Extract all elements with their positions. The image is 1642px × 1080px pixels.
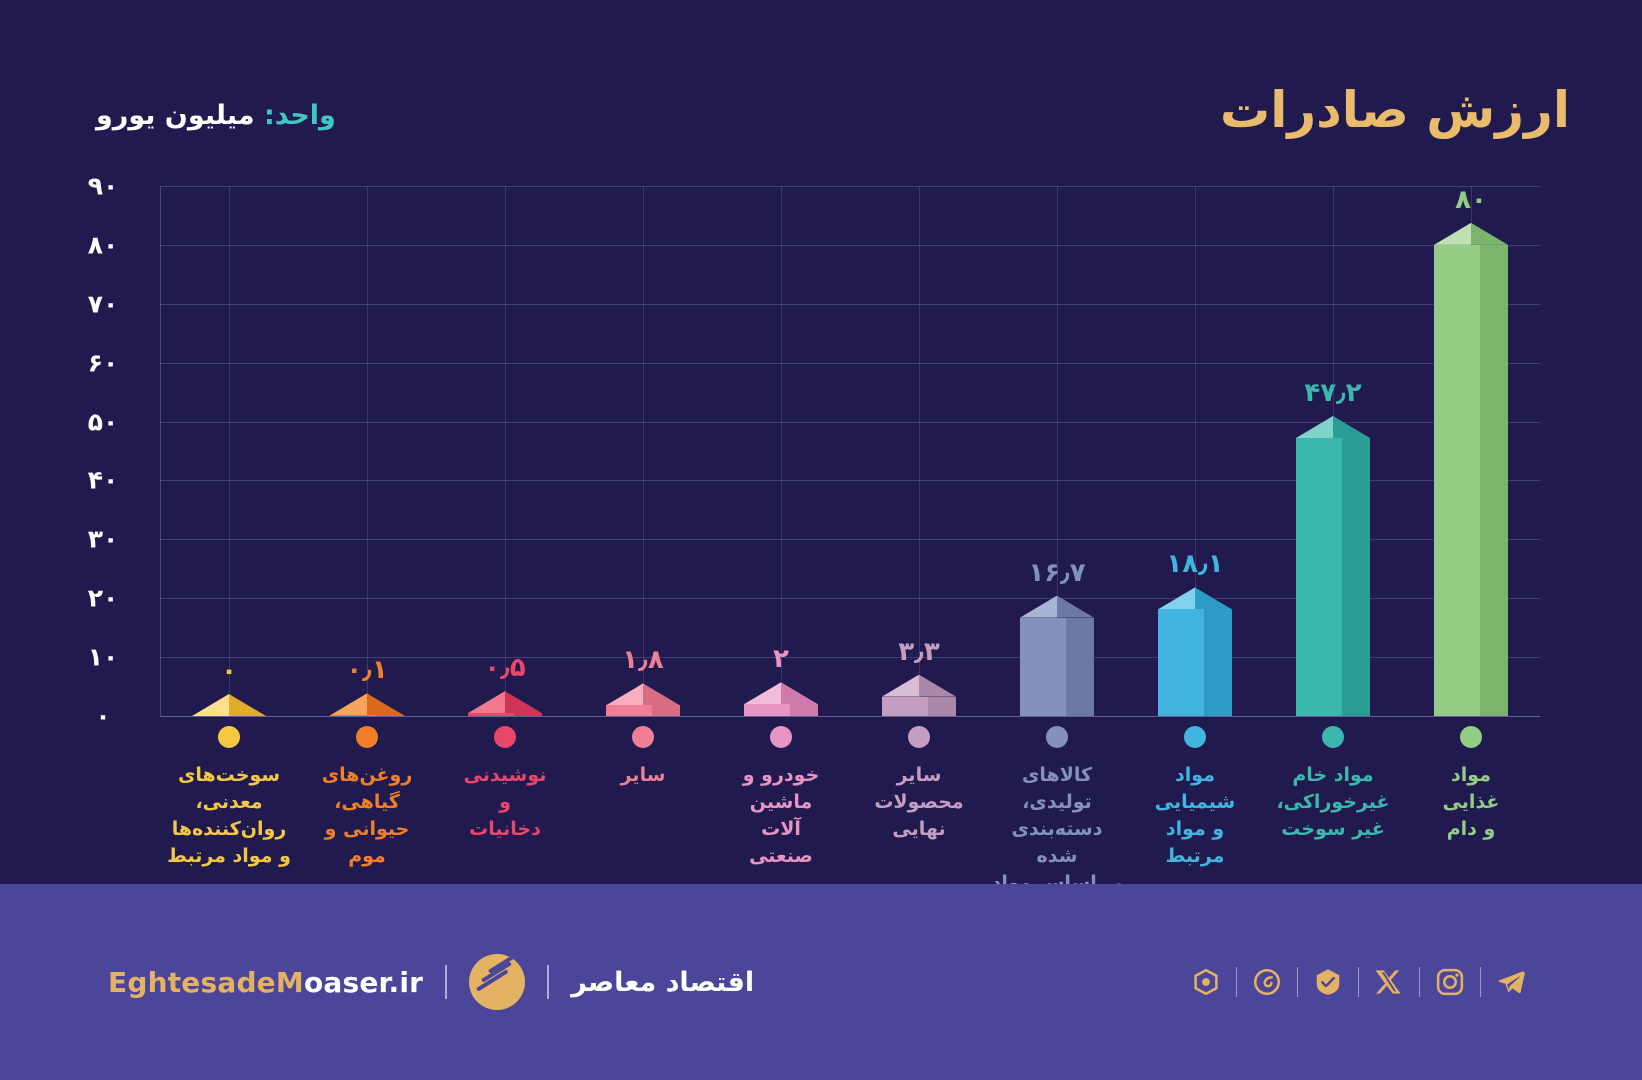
bar-top-right-facet: [367, 693, 404, 715]
bar-top-left-facet: [1158, 587, 1195, 609]
category-label: موادغذاییو دام: [1402, 762, 1540, 843]
category-label-line: روان‌کننده‌ها: [160, 816, 298, 843]
bar-value-label: ۴۷٫۲: [1304, 378, 1361, 408]
bar-top-face: [882, 675, 956, 697]
bar-slot[interactable]: ۰: [160, 186, 298, 716]
bar[interactable]: [1434, 223, 1508, 716]
bar[interactable]: [1296, 416, 1370, 716]
category-label-line: آلات: [712, 816, 850, 843]
category-label-line: غیرخوراکی،: [1264, 789, 1402, 816]
category-label-line: سوخت‌های: [160, 762, 298, 789]
category-dot-icon: [1322, 726, 1344, 748]
y-tick-label: ۳۰: [68, 525, 138, 554]
category-label: مواد خامغیرخوراکی،غیر سوخت: [1264, 762, 1402, 843]
bar-slot[interactable]: ۳٫۳: [850, 186, 988, 716]
y-tick-label: ۰: [68, 702, 138, 731]
bar-top-right-facet: [1471, 223, 1508, 245]
bar-slot[interactable]: ۱۶٫۷: [988, 186, 1126, 716]
x-category-5[interactable]: سایرمحصولاتنهایی: [850, 726, 988, 843]
category-label-line: و مواد مرتبط: [160, 843, 298, 870]
brand-group: اقتصاد معاصر EghtesadeMoaser.ir: [108, 950, 754, 1014]
category-label: سوخت‌هایمعدنی،روان‌کننده‌هاو مواد مرتبط: [160, 762, 298, 870]
bar-slot[interactable]: ۰٫۵: [436, 186, 574, 716]
bar-front-face: [1020, 618, 1094, 716]
category-label-line: دسته‌بندی شده: [988, 816, 1126, 870]
bar-front-face: [882, 697, 956, 716]
category-dot-icon: [494, 726, 516, 748]
bar-front-face: [1434, 245, 1508, 716]
y-tick-label: ۴۰: [68, 466, 138, 495]
bar-top-face: [330, 693, 404, 715]
bar-top-face: [1296, 416, 1370, 438]
category-label: کالاهای تولیدی،دسته‌بندی شدهبر اساس مواد: [988, 762, 1126, 897]
bar-value-label: ۲: [773, 644, 789, 674]
category-dot-icon: [218, 726, 240, 748]
category-label-line: مواد: [1402, 762, 1540, 789]
x-category-8[interactable]: مواد خامغیرخوراکی،غیر سوخت: [1264, 726, 1402, 843]
category-dot-icon: [1184, 726, 1206, 748]
bar-top-right-facet: [919, 675, 956, 697]
bar-top-left-facet: [1296, 416, 1333, 438]
bar-front-face: [606, 705, 680, 716]
bar-top-left-facet: [192, 694, 229, 716]
eitaa-icon[interactable]: [1244, 959, 1290, 1005]
category-label-line: نهایی: [850, 816, 988, 843]
x-category-4[interactable]: خودرو وماشینآلاتصنعتی: [712, 726, 850, 870]
site-url-part-1: EghtesadeM: [108, 966, 304, 999]
bar-top-face: [468, 691, 542, 713]
x-category-9[interactable]: موادغذاییو دام: [1402, 726, 1540, 843]
bar-front-face: [744, 704, 818, 716]
gridline: [160, 716, 1540, 717]
bale-icon[interactable]: [1305, 959, 1351, 1005]
bar[interactable]: [606, 683, 680, 716]
bar-slot[interactable]: ۲: [712, 186, 850, 716]
bar-top-face: [1434, 223, 1508, 245]
social-divider: [1419, 967, 1420, 997]
y-tick-label: ۹۰: [68, 172, 138, 201]
x-twitter-icon[interactable]: [1366, 959, 1412, 1005]
page-title: ارزش صادرات: [1220, 82, 1570, 140]
unit-value: میلیون یورو: [96, 100, 255, 131]
category-label-line: دخانیات: [436, 816, 574, 843]
bar-top-left-facet: [468, 691, 505, 713]
bar-top-right-facet: [1195, 587, 1232, 609]
social-divider: [1358, 967, 1359, 997]
site-logo-icon: [469, 954, 525, 1010]
bar-top-right-facet: [1333, 416, 1370, 438]
category-label-line: روغن‌های: [298, 762, 436, 789]
bar-top-face: [1020, 596, 1094, 618]
bar[interactable]: [744, 682, 818, 716]
category-dot-icon: [908, 726, 930, 748]
category-dot-icon: [770, 726, 792, 748]
bar[interactable]: [330, 693, 404, 716]
bar[interactable]: [1020, 596, 1094, 716]
bar-top-face: [1158, 587, 1232, 609]
y-tick-label: ۲۰: [68, 584, 138, 613]
category-label-line: سایر: [574, 762, 712, 789]
category-dot-icon: [356, 726, 378, 748]
category-label: موادشیمیاییو موادمرتبط: [1126, 762, 1264, 870]
bar-value-label: ۰: [221, 656, 237, 686]
bar-top-left-facet: [744, 682, 781, 704]
bar-top-right-facet: [229, 694, 266, 716]
social-divider: [1297, 967, 1298, 997]
bar[interactable]: [882, 675, 956, 716]
y-tick-label: ۵۰: [68, 407, 138, 436]
bar-front-face: [330, 715, 404, 716]
category-label-line: غذایی: [1402, 789, 1540, 816]
x-category-1[interactable]: روغن‌هایگیاهی،حیوانی وموم: [298, 726, 436, 870]
category-label-line: مواد: [1126, 762, 1264, 789]
bar-front-face: [1296, 438, 1370, 716]
bar-top-left-facet: [1434, 223, 1471, 245]
social-links: [1183, 950, 1534, 1014]
y-tick-label: ۸۰: [68, 230, 138, 259]
infographic-root: ارزش صادرات واحد: میلیون یورو ۹۰۸۰۷۰۶۰۵۰…: [0, 0, 1642, 1080]
bar-slot[interactable]: ۴۷٫۲: [1264, 186, 1402, 716]
category-label-line: صنعتی: [712, 843, 850, 870]
category-label-line: و دام: [1402, 816, 1540, 843]
category-label-line: شیمیایی: [1126, 789, 1264, 816]
category-label-line: گیاهی،: [298, 789, 436, 816]
category-label-line: محصولات: [850, 789, 988, 816]
bar-top-right-facet: [505, 691, 542, 713]
category-label-line: معدنی،: [160, 789, 298, 816]
category-label: نوشیدنیودخانیات: [436, 762, 574, 843]
bar-top-left-facet: [330, 693, 367, 715]
bar[interactable]: [1158, 587, 1232, 716]
bar-top-left-facet: [1020, 596, 1057, 618]
bar-value-label: ۸۰: [1455, 185, 1487, 215]
brand-name-fa: اقتصاد معاصر: [571, 967, 754, 998]
social-divider: [1236, 967, 1237, 997]
site-url[interactable]: EghtesadeMoaser.ir: [108, 966, 423, 999]
bar-value-label: ۰٫۵: [484, 653, 525, 683]
x-category-6[interactable]: کالاهای تولیدی،دسته‌بندی شدهبر اساس مواد: [988, 726, 1126, 897]
category-label: سایر: [574, 762, 712, 789]
category-label: روغن‌هایگیاهی،حیوانی وموم: [298, 762, 436, 870]
x-category-0[interactable]: سوخت‌هایمعدنی،روان‌کننده‌هاو مواد مرتبط: [160, 726, 298, 870]
y-tick-label: ۶۰: [68, 348, 138, 377]
category-dot-icon: [1046, 726, 1068, 748]
category-label-line: غیر سوخت: [1264, 816, 1402, 843]
category-label-line: ماشین: [712, 789, 850, 816]
telegram-icon[interactable]: [1488, 959, 1534, 1005]
unit-label: واحد:: [264, 100, 336, 131]
category-label-line: سایر: [850, 762, 988, 789]
y-tick-label: ۷۰: [68, 289, 138, 318]
bar-value-label: ۳٫۳: [898, 637, 939, 667]
bar-top-right-facet: [781, 682, 818, 704]
category-label-line: نوشیدنی: [436, 762, 574, 789]
social-divider: [1480, 967, 1481, 997]
bar-slot[interactable]: ۰٫۱: [298, 186, 436, 716]
bar-value-label: ۱٫۸: [622, 645, 663, 675]
bar[interactable]: [468, 691, 542, 716]
bar-top-left-facet: [606, 683, 643, 705]
bar-slot[interactable]: ۱٫۸: [574, 186, 712, 716]
bar-top-right-facet: [1057, 596, 1094, 618]
instagram-icon[interactable]: [1427, 959, 1473, 1005]
bar[interactable]: [192, 694, 266, 716]
category-label-line: و مواد: [1126, 816, 1264, 843]
category-label-line: خودرو و: [712, 762, 850, 789]
category-label-line: و: [436, 789, 574, 816]
category-dot-icon: [632, 726, 654, 748]
bar-top-face: [606, 683, 680, 705]
category-label-line: موم: [298, 843, 436, 870]
x-category-7[interactable]: موادشیمیاییو موادمرتبط: [1126, 726, 1264, 870]
brand-divider-1: [547, 965, 549, 999]
site-url-part-2: oaser.ir: [304, 966, 423, 999]
bar-value-label: ۱۶٫۷: [1028, 558, 1085, 588]
bar-value-label: ۰٫۱: [346, 655, 387, 685]
y-tick-label: ۱۰: [68, 643, 138, 672]
bar-value-label: ۱۸٫۱: [1166, 549, 1223, 579]
unit-caption: واحد: میلیون یورو: [96, 100, 336, 132]
category-label-line: مرتبط: [1126, 843, 1264, 870]
category-label-line: کالاهای تولیدی،: [988, 762, 1126, 816]
category-label: سایرمحصولاتنهایی: [850, 762, 988, 843]
bar-top-face: [744, 682, 818, 704]
bar-top-right-facet: [643, 683, 680, 705]
chart-plot-area: ۹۰۸۰۷۰۶۰۵۰۴۰۳۰۲۰۱۰۰ ۰۰٫۱۰٫۵۱٫۸۲۳٫۳۱۶٫۷۱۸…: [160, 186, 1540, 716]
bar-front-face: [1158, 609, 1232, 716]
x-category-3[interactable]: سایر: [574, 726, 712, 789]
x-category-2[interactable]: نوشیدنیودخانیات: [436, 726, 574, 843]
category-label: خودرو وماشینآلاتصنعتی: [712, 762, 850, 870]
brand-divider-2: [445, 965, 447, 999]
bar-top-left-facet: [882, 675, 919, 697]
bar-top-face: [192, 694, 266, 716]
category-label-line: حیوانی و: [298, 816, 436, 843]
category-dot-icon: [1460, 726, 1482, 748]
category-label-line: مواد خام: [1264, 762, 1402, 789]
footer-bar: اقتصاد معاصر EghtesadeMoaser.ir: [0, 884, 1642, 1080]
bar-slot[interactable]: ۱۸٫۱: [1126, 186, 1264, 716]
bar-slot[interactable]: ۸۰: [1402, 186, 1540, 716]
bar-front-face: [468, 713, 542, 716]
rubika-icon[interactable]: [1183, 959, 1229, 1005]
